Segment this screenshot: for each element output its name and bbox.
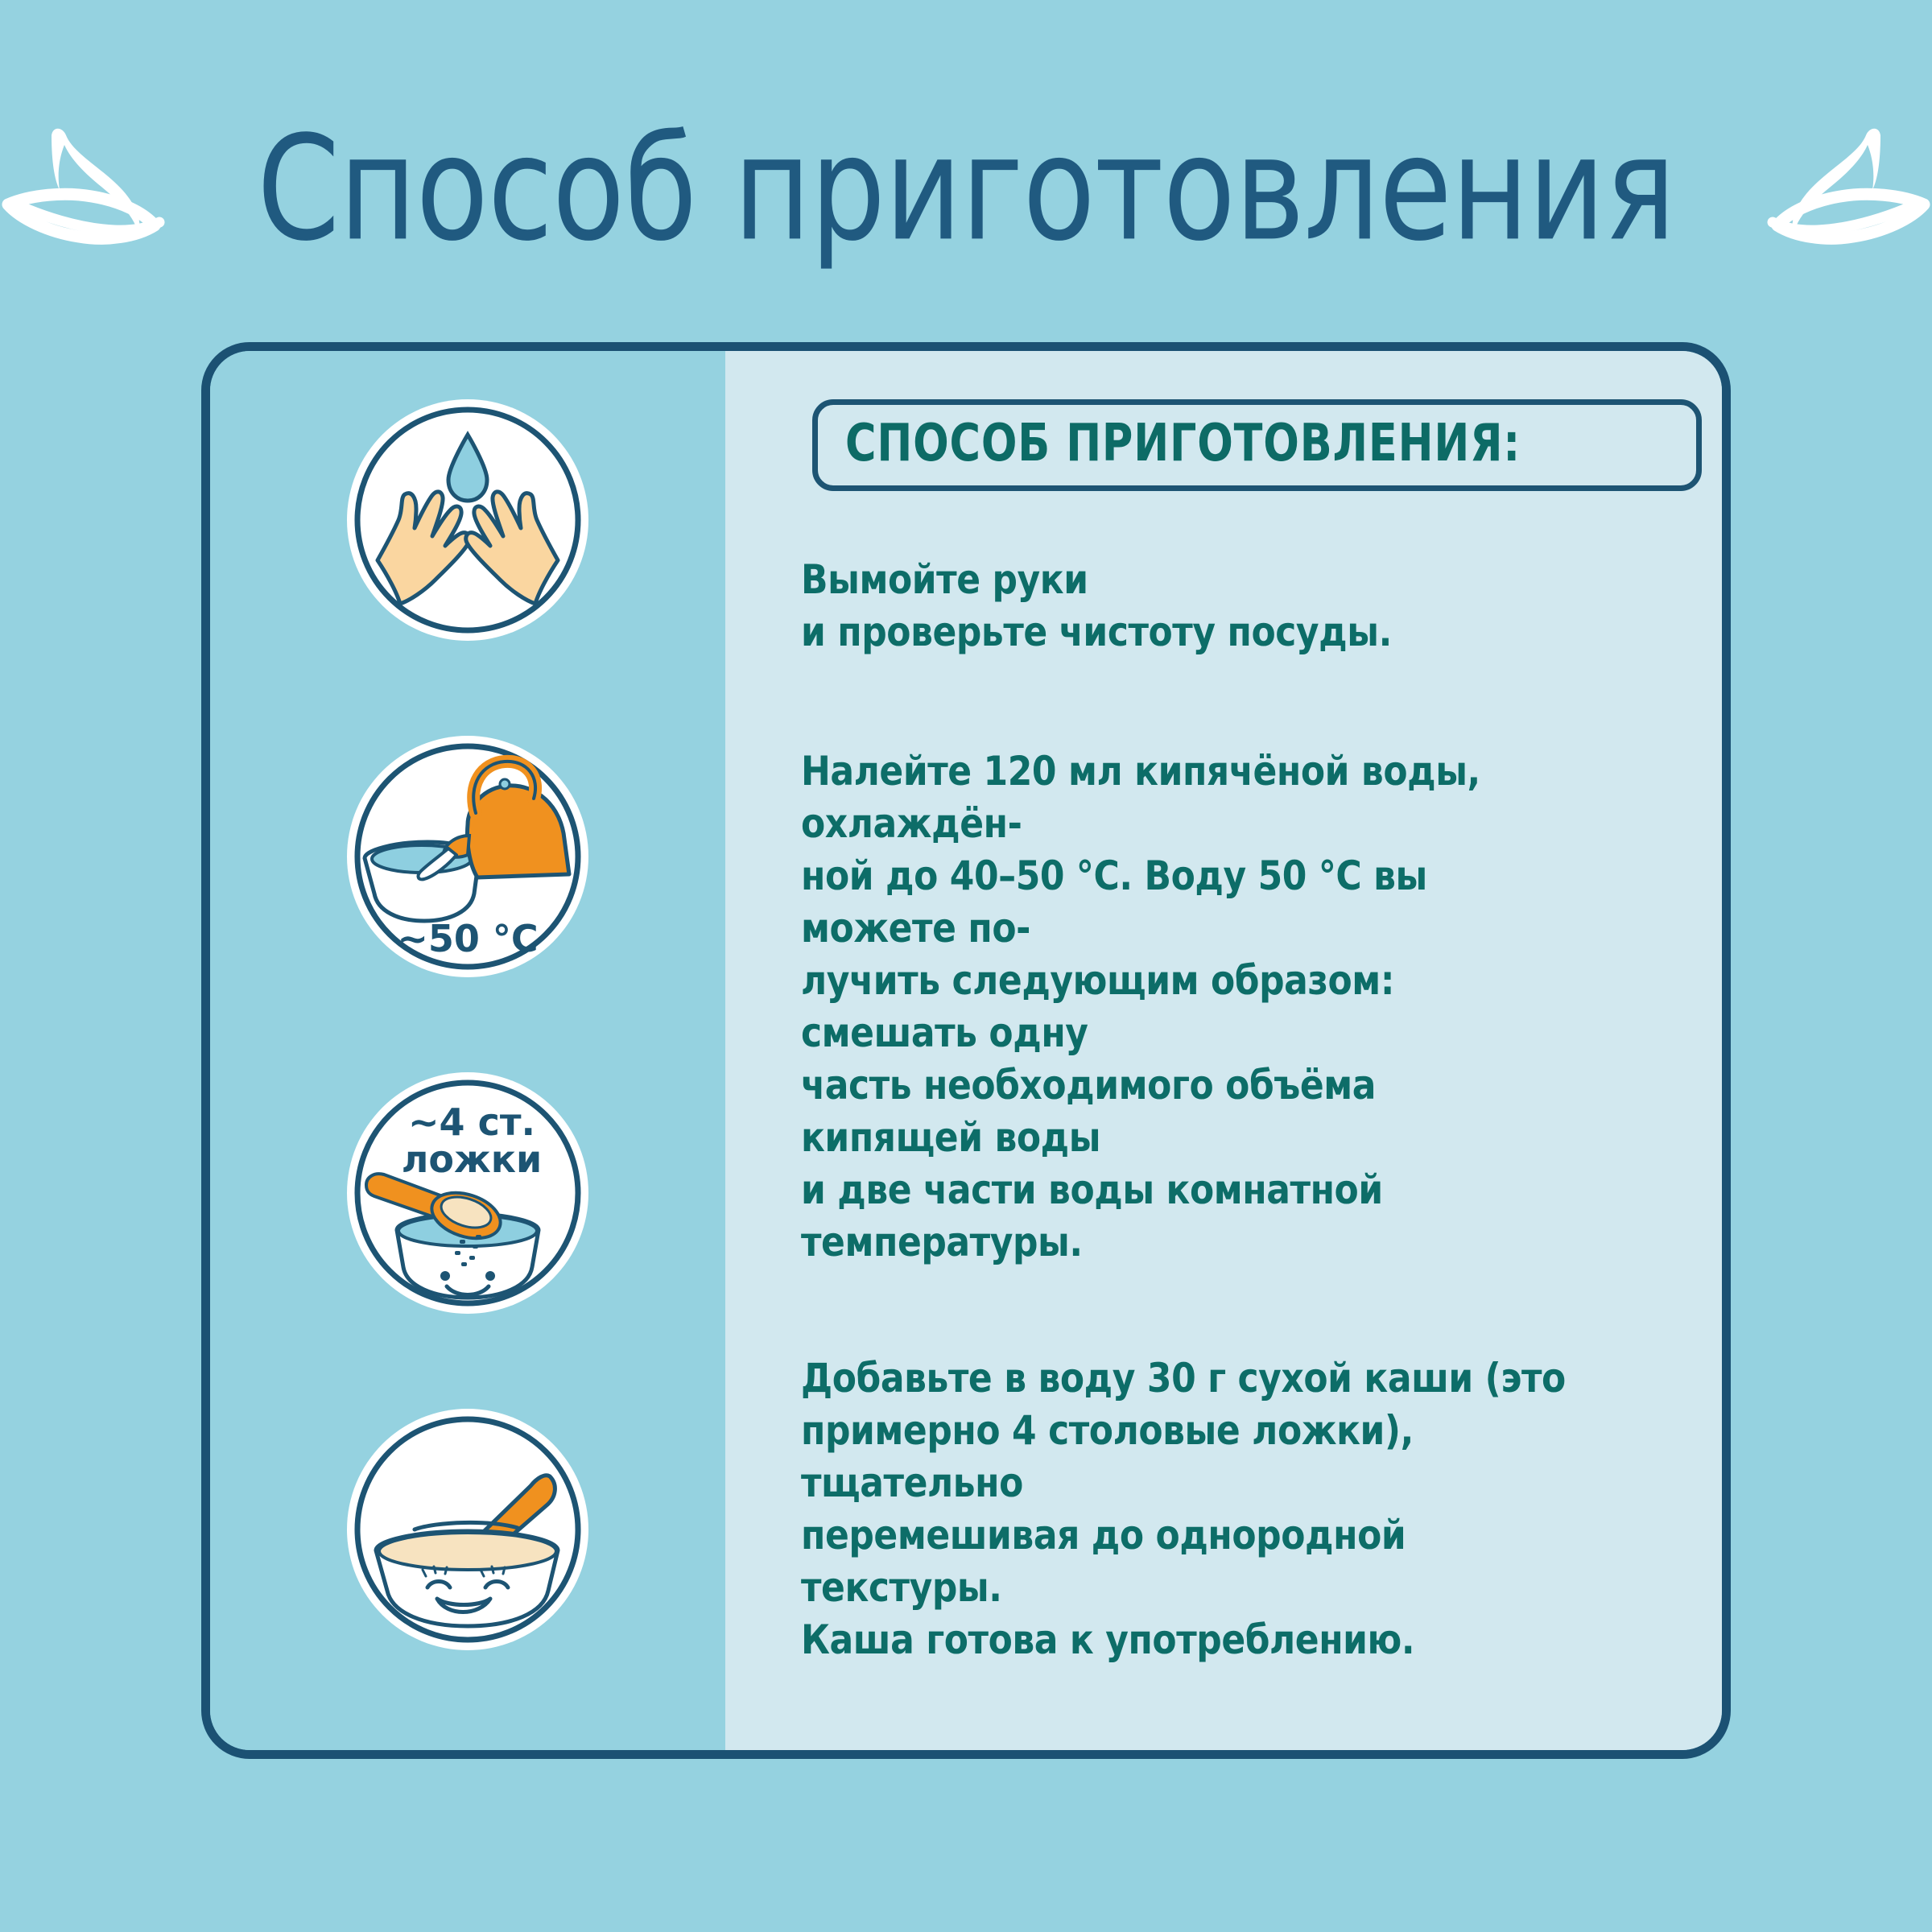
kettle-pouring-icon: ~50 °C <box>347 736 588 977</box>
page-header: Способ приготовления <box>0 97 1932 282</box>
step-add-butter: В приготовленную кашу допускается добав-… <box>801 1752 1569 1759</box>
step-wash-hands: Вымойте руки и проверьте чистоту посуды. <box>801 554 1569 658</box>
hand-washing-icon <box>347 399 588 641</box>
step-pour-water: Налейте 120 мл кипячёной воды, охлаждён-… <box>801 745 1569 1269</box>
page-title: Способ приготовления <box>257 117 1675 261</box>
step-spacer <box>801 1666 1674 1711</box>
icon-caption-spoons-line2: ложки <box>402 1137 543 1181</box>
instructions-panel: ~50 °C ~4 ст. ложки <box>201 342 1731 1759</box>
steps-list: Вымойте руки и проверьте чистоту посуды.… <box>801 554 1674 1759</box>
leaf-sprout-icon <box>1745 121 1930 258</box>
icon-caption-temperature: ~50 °C <box>397 917 538 960</box>
leaf-sprout-icon <box>2 121 187 258</box>
spoon-pouring-icon: ~4 ст. ложки <box>347 1072 588 1314</box>
icon-column: ~50 °C ~4 ст. ложки <box>210 351 725 1750</box>
icon-column-background: ~50 °C ~4 ст. ложки <box>210 351 725 1750</box>
step-add-porridge: Добавьте в воду 30 г сухой каши (это при… <box>801 1352 1569 1666</box>
section-badge: СПОСОБ ПРИГОТОВЛЕНИЯ: <box>812 399 1702 491</box>
instructions-text-area: СПОСОБ ПРИГОТОВЛЕНИЯ: Вымойте руки и про… <box>725 351 1722 1750</box>
section-badge-label: СПОСОБ ПРИГОТОВЛЕНИЯ: <box>845 418 1521 469</box>
porridge-bowl-icon <box>347 1409 588 1650</box>
step-spacer <box>801 1269 1674 1312</box>
step-spacer <box>801 658 1674 705</box>
text-column: СПОСОБ ПРИГОТОВЛЕНИЯ: Вымойте руки и про… <box>790 399 1674 1718</box>
